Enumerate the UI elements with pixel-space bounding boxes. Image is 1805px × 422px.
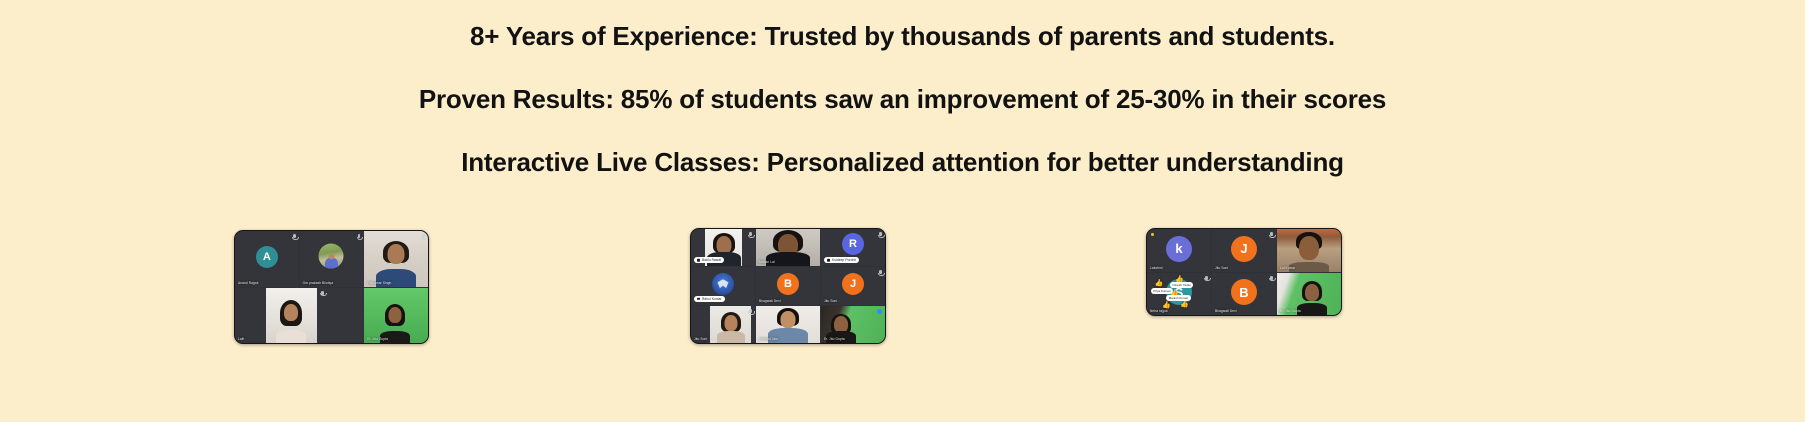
thumbs-up-reaction-icon: 👍 bbox=[1180, 301, 1189, 308]
meeting-screenshot-3: k Lakshmi J Jitu Soni Lal Kumar S bbox=[1146, 228, 1342, 316]
reaction-label: Dinesh Yadav bbox=[1170, 282, 1193, 288]
video-feed bbox=[710, 306, 751, 343]
participant-name: Er. Jitu Gupta bbox=[367, 337, 388, 341]
participant-tile: B Bhagwati Devi bbox=[1212, 273, 1276, 316]
avatar: R bbox=[842, 233, 864, 255]
video-feed bbox=[364, 288, 428, 344]
avatar: k bbox=[1166, 236, 1192, 262]
participant-tile: J Jitu Soni bbox=[821, 267, 885, 304]
reaction-label: Priya Kumari bbox=[1151, 288, 1173, 294]
participant-tile: Om prakash Bilotiya bbox=[300, 231, 364, 287]
participant-name: Kuldeep Purohit bbox=[824, 257, 859, 263]
speaking-indicator-icon bbox=[877, 309, 882, 314]
participant-tile: Lalit bbox=[235, 288, 363, 344]
meeting-screenshot-1: A Anand Rajput Om prakash Bilotiya Rajku… bbox=[234, 230, 429, 344]
participant-name: Bablu Rawat bbox=[694, 257, 724, 263]
mic-muted-icon bbox=[358, 234, 361, 238]
participant-name: Jitu Soni bbox=[1215, 266, 1228, 270]
participant-name: Lalit bbox=[238, 337, 244, 341]
participant-name: Lal Kumar bbox=[1280, 266, 1295, 270]
participant-name: Er. Jitu Gupta bbox=[824, 337, 845, 341]
mic-muted-icon bbox=[321, 291, 324, 295]
mic-muted-icon bbox=[879, 232, 882, 236]
participant-tile: Mohan Lal bbox=[756, 229, 820, 266]
headline-results: Proven Results: 85% of students saw an i… bbox=[419, 85, 1386, 115]
avatar: B bbox=[1231, 279, 1257, 305]
thumbs-up-reaction-icon: 👍 bbox=[1155, 280, 1164, 287]
headline-group: 8+ Years of Experience: Trusted by thous… bbox=[0, 0, 1805, 178]
participant-tile: Er. Jitu Gupta bbox=[1277, 273, 1341, 316]
reaction-label: Manish Kumar bbox=[1166, 295, 1190, 301]
promo-banner: 8+ Years of Experience: Trusted by thous… bbox=[0, 0, 1805, 422]
participant-tile: Bablu Rawat bbox=[691, 229, 755, 266]
participant-name: Neha rajput bbox=[1150, 309, 1168, 313]
participant-name: Er. Jitu Gupta bbox=[1280, 309, 1301, 313]
avatar: A bbox=[256, 246, 278, 268]
participant-tile: Rajkumar Singh bbox=[364, 231, 428, 287]
participant-name: Hemant Jain bbox=[759, 337, 778, 341]
participant-tile: Hemant Jain bbox=[756, 306, 820, 343]
participant-name: Jitu Soni bbox=[694, 337, 707, 341]
headline-live-classes: Interactive Live Classes: Personalized a… bbox=[461, 148, 1344, 178]
participant-name: Bhagwati Devi bbox=[1215, 309, 1237, 313]
participant-name: Mohan Lal bbox=[759, 260, 775, 264]
participant-tile: B Bhagwati Devi bbox=[756, 267, 820, 304]
mic-muted-icon bbox=[1205, 276, 1208, 280]
avatar: B bbox=[777, 273, 799, 295]
mic-muted-icon bbox=[422, 234, 425, 238]
avatar: J bbox=[1231, 236, 1257, 262]
avatar bbox=[319, 243, 344, 268]
reaction-indicator-icon bbox=[1151, 233, 1154, 236]
mic-muted-icon bbox=[293, 234, 296, 238]
avatar: J bbox=[842, 273, 864, 295]
participant-tile: Rahul Kumar bbox=[691, 267, 755, 304]
meeting-screenshot-strip: A Anand Rajput Om prakash Bilotiya Rajku… bbox=[0, 228, 1805, 358]
participant-name: Jitu Soni bbox=[824, 299, 837, 303]
headline-experience: 8+ Years of Experience: Trusted by thous… bbox=[470, 22, 1335, 52]
participant-tile: A Anand Rajput bbox=[235, 231, 299, 287]
participant-tile: Er. Jitu Gupta bbox=[364, 288, 428, 344]
participant-tile: k Lakshmi bbox=[1147, 229, 1211, 272]
participant-name: Anand Rajput bbox=[238, 281, 259, 285]
mic-muted-icon bbox=[749, 309, 752, 313]
participant-tile: R Kuldeep Purohit bbox=[821, 229, 885, 266]
participant-name: Rajkumar Singh bbox=[367, 281, 391, 285]
participant-name: Om prakash Bilotiya bbox=[303, 281, 333, 285]
participant-name: Bhagwati Devi bbox=[759, 299, 781, 303]
participant-tile: Lal Kumar bbox=[1277, 229, 1341, 272]
participant-tile: Jitu Soni bbox=[691, 306, 755, 343]
participant-name: Lakshmi bbox=[1150, 266, 1163, 270]
participant-tile: J Jitu Soni bbox=[1212, 229, 1276, 272]
mic-muted-icon bbox=[749, 232, 752, 236]
participant-tile: Er. Jitu Gupta bbox=[821, 306, 885, 343]
thumbs-up-reaction-icon: 👍 bbox=[1162, 302, 1171, 309]
participant-tile: S 👍 👍 👍 👍 👍 Dinesh Yadav Priya Kumari Ma… bbox=[1147, 273, 1211, 316]
video-feed bbox=[364, 231, 428, 287]
mic-muted-icon bbox=[1270, 232, 1273, 236]
video-feed bbox=[266, 288, 317, 344]
meeting-screenshot-2: Bablu Rawat Mohan Lal R Kuldeep Purohit … bbox=[690, 228, 886, 344]
mic-muted-icon bbox=[879, 270, 882, 274]
avatar bbox=[712, 273, 734, 295]
participant-name: Rahul Kumar bbox=[694, 296, 725, 302]
mic-muted-icon bbox=[1270, 276, 1273, 280]
